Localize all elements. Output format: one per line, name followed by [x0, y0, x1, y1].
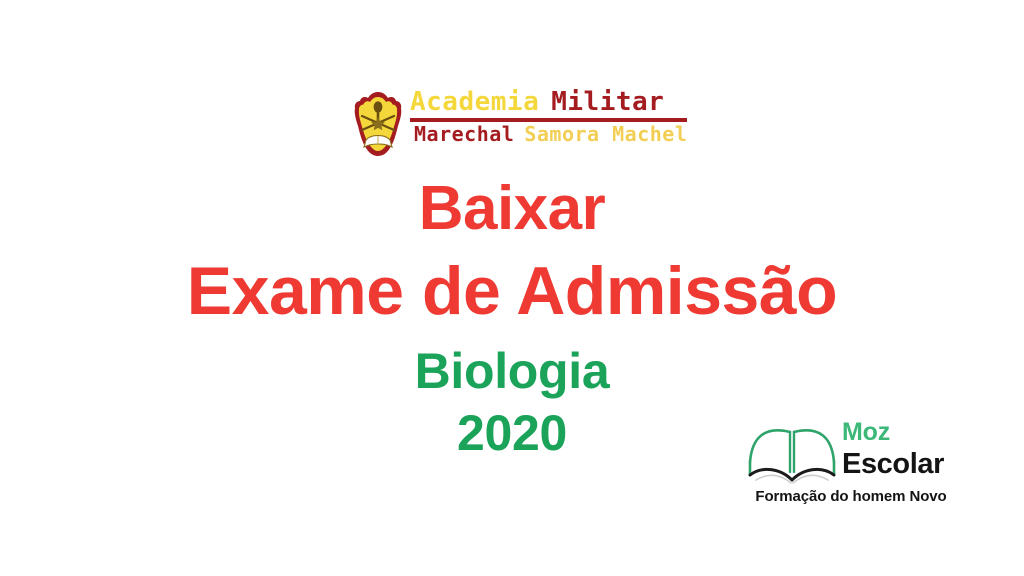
academia-militar-wordmark: AcademiaMilitar MarechalSamora Machel	[410, 89, 687, 144]
moz-word: Moz	[842, 420, 944, 445]
academia-militar-title: AcademiaMilitar	[410, 89, 687, 117]
academia-militar-logo: AcademiaMilitar MarechalSamora Machel	[352, 88, 687, 158]
militar-word: Militar	[551, 87, 664, 117]
headline-exame-de-admissao: Exame de Admissão	[0, 253, 1024, 329]
moz-escolar-logo-top: Moz Escolar	[746, 418, 956, 486]
moz-escolar-logo: Moz Escolar Formação do homem Novo	[746, 418, 956, 505]
moz-escolar-tagline: Formação do homem Novo	[746, 488, 956, 505]
poster-canvas: AcademiaMilitar MarechalSamora Machel Ba…	[0, 0, 1024, 576]
samora-machel-words: Samora Machel	[524, 122, 687, 146]
academia-militar-subtitle: MarechalSamora Machel	[410, 124, 687, 144]
moz-escolar-wordmark: Moz Escolar	[842, 420, 944, 479]
marechal-word: Marechal	[414, 122, 514, 146]
headline-subject: Biologia	[0, 343, 1024, 401]
military-academy-crest-icon	[352, 90, 404, 158]
headline-baixar: Baixar	[0, 176, 1024, 243]
academia-word: Academia	[410, 87, 539, 117]
escolar-word: Escolar	[842, 450, 944, 479]
open-book-icon	[746, 418, 838, 486]
